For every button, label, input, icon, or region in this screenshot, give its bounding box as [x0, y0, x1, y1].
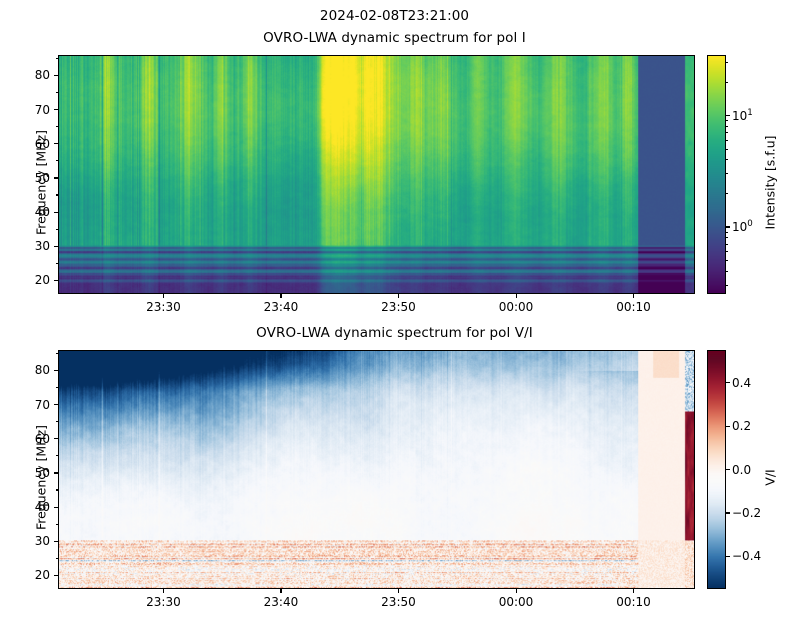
y-minor-tick-mark	[56, 387, 58, 388]
dynamic-spectrum-pol-i	[58, 55, 695, 294]
y-tick-mark	[54, 109, 58, 110]
x-tick-mark	[516, 589, 517, 593]
colorbar-minor-tick-mark	[726, 82, 728, 83]
y-tick-mark	[54, 370, 58, 371]
y-tick-mark	[54, 280, 58, 281]
y-tick-label: 20	[12, 273, 50, 287]
x-tick-mark	[163, 589, 164, 593]
x-tick-mark	[398, 294, 399, 298]
x-tick-label: 23:30	[146, 595, 181, 609]
y-minor-tick-mark	[56, 263, 58, 264]
x-tick-label: 23:50	[381, 595, 416, 609]
figure-suptitle: 2024-02-08T23:21:00	[0, 8, 789, 24]
y-tick-mark	[54, 404, 58, 405]
x-tick-label: 23:30	[146, 300, 181, 314]
colorbar-minor-tick-mark	[726, 126, 728, 127]
y-minor-tick-mark	[56, 455, 58, 456]
colorbar-stokes-v-over-i	[707, 350, 726, 589]
colorbar-label-vi: V/I	[763, 418, 778, 538]
x-tick-label: 23:40	[264, 595, 299, 609]
x-tick-label: 23:50	[381, 300, 416, 314]
y-tick-mark	[54, 246, 58, 247]
colorbar-minor-tick-mark	[726, 62, 728, 63]
colorbar-tick-mark	[726, 556, 730, 557]
y-minor-tick-mark	[56, 194, 58, 195]
panel-title-pol-i: OVRO-LWA dynamic spectrum for pol I	[0, 30, 789, 46]
x-tick-mark	[516, 294, 517, 298]
colorbar-minor-tick-mark	[726, 260, 728, 261]
colorbar-tick-mark	[726, 382, 730, 383]
colorbar-tick-label: 0.2	[732, 419, 751, 433]
y-tick-mark	[54, 472, 58, 473]
panel-title-pol-vi: OVRO-LWA dynamic spectrum for pol V/I	[0, 325, 789, 341]
colorbar-minor-tick-mark	[726, 237, 728, 238]
y-minor-tick-mark	[56, 160, 58, 161]
colorbar-tick-label: −0.4	[732, 549, 761, 563]
y-tick-mark	[54, 507, 58, 508]
x-tick-label: 00:00	[499, 300, 534, 314]
y-minor-tick-mark	[56, 421, 58, 422]
y-tick-mark	[54, 212, 58, 213]
colorbar-minor-tick-mark	[726, 120, 728, 121]
y-minor-tick-mark	[56, 126, 58, 127]
colorbar-label-intensity: Intensity [s.f.u]	[763, 113, 778, 253]
colorbar-minor-tick-mark	[726, 149, 728, 150]
colorbar-tick-label: 0.0	[732, 463, 751, 477]
y-tick-mark	[54, 438, 58, 439]
y-axis-label-top: Frequency [MHz]	[34, 113, 49, 253]
x-tick-mark	[280, 589, 281, 593]
y-minor-tick-mark	[56, 92, 58, 93]
x-tick-label: 23:40	[264, 300, 299, 314]
colorbar-tick-label: −0.2	[732, 506, 761, 520]
y-minor-tick-mark	[56, 58, 58, 59]
y-tick-mark	[54, 541, 58, 542]
colorbar-tick-label: 100	[732, 220, 753, 234]
colorbar-minor-tick-mark	[726, 140, 728, 141]
y-tick-label: 80	[12, 363, 50, 377]
colorbar-tick-mark	[726, 226, 730, 227]
colorbar-minor-tick-mark	[726, 285, 728, 286]
colorbar-tick-label: 101	[732, 109, 753, 123]
y-tick-mark	[54, 177, 58, 178]
colorbar-minor-tick-mark	[726, 244, 728, 245]
colorbar-tick-mark	[726, 426, 730, 427]
x-tick-label: 00:00	[499, 595, 534, 609]
y-tick-mark	[54, 143, 58, 144]
y-minor-tick-mark	[56, 229, 58, 230]
y-tick-mark	[54, 75, 58, 76]
y-tick-label: 80	[12, 68, 50, 82]
colorbar-minor-tick-mark	[726, 173, 728, 174]
x-tick-mark	[398, 589, 399, 593]
y-axis-label-bottom: Frequency [MHz]	[34, 408, 49, 548]
colorbar-minor-tick-mark	[726, 193, 728, 194]
colorbar-minor-tick-mark	[726, 132, 728, 133]
y-minor-tick-mark	[56, 558, 58, 559]
x-tick-mark	[633, 589, 634, 593]
colorbar-minor-tick-mark	[726, 159, 728, 160]
dynamic-spectrum-pol-vi	[58, 350, 695, 589]
y-minor-tick-mark	[56, 524, 58, 525]
y-tick-label: 20	[12, 568, 50, 582]
colorbar-tick-mark	[726, 469, 730, 470]
x-tick-mark	[633, 294, 634, 298]
colorbar-intensity	[707, 55, 726, 294]
colorbar-tick-label: 0.4	[732, 376, 751, 390]
x-tick-label: 00:10	[616, 300, 651, 314]
y-minor-tick-mark	[56, 353, 58, 354]
figure-canvas: 2024-02-08T23:21:00 OVRO-LWA dynamic spe…	[0, 0, 789, 617]
x-tick-mark	[163, 294, 164, 298]
colorbar-minor-tick-mark	[726, 271, 728, 272]
colorbar-tick-mark	[726, 512, 730, 513]
x-tick-label: 00:10	[616, 595, 651, 609]
y-tick-mark	[54, 575, 58, 576]
colorbar-tick-mark	[726, 115, 730, 116]
colorbar-minor-tick-mark	[726, 232, 728, 233]
colorbar-minor-tick-mark	[726, 251, 728, 252]
y-minor-tick-mark	[56, 489, 58, 490]
x-tick-mark	[280, 294, 281, 298]
